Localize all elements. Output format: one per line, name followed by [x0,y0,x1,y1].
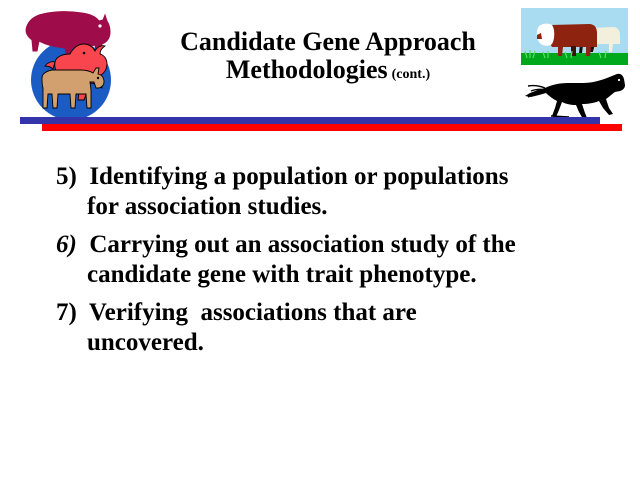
list-item: 7) Verifying associations that are uncov… [56,298,616,357]
title-cont-suffix: (cont.) [388,67,431,82]
divider-bar-red [42,124,622,131]
list-item-marker: 5) [56,163,77,190]
list-item: 6) Carrying out an association study of … [56,230,616,289]
list-item-line: 6) Carrying out an association study of … [56,230,616,260]
pig-silhouette [26,12,110,53]
list-item-line: for association studies. [56,192,616,222]
list-item: 5) Identifying a population or populatio… [56,162,616,221]
list-item-line: uncovered. [56,328,616,358]
title-main-text: Methodologies [226,55,388,84]
list-item-text: Identifying a population or populations [89,163,508,190]
title-line-2: Methodologies(cont.) [148,56,508,84]
title-line-1: Candidate Gene Approach [148,28,508,56]
list-item-text: Carrying out an association study of the [89,231,515,258]
list-item-line: candidate gene with trait phenotype. [56,260,616,290]
list-item-marker: 6) [56,231,77,258]
livestock-emblem-logo [10,8,132,120]
list-item-text: Verifying associations that are [89,299,417,326]
numbered-list: 5) Identifying a population or populatio… [56,162,616,366]
cattle-pasture-photo [521,8,628,65]
slide-canvas: Candidate Gene Approach Methodologies(co… [0,0,640,480]
divider-bar-blue [20,117,600,124]
list-item-marker: 7) [56,299,77,326]
slide-header: Candidate Gene Approach Methodologies(co… [0,0,640,136]
galloping-horse-silhouette [521,70,631,122]
list-item-line: 7) Verifying associations that are [56,298,616,328]
slide-title: Candidate Gene Approach Methodologies(co… [148,28,508,84]
list-item-line: 5) Identifying a population or populatio… [56,162,616,192]
